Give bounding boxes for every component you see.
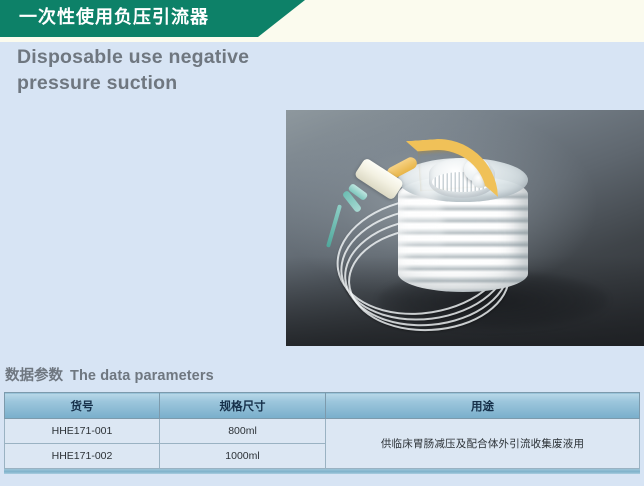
page-title-line-2: pressure suction [17, 70, 287, 96]
specification-table: 货号 规格尺寸 用途 HHE171-001 800ml 供临床胃肠减压及配合体外… [4, 392, 640, 469]
page-title: Disposable use negative pressure suction [17, 44, 287, 96]
data-parameters-heading: 数据参数The data parameters [5, 364, 214, 385]
cell-code: HHE171-001 [5, 419, 160, 444]
column-header-spec: 规格尺寸 [160, 393, 326, 419]
data-parameters-heading-cn: 数据参数 [5, 368, 63, 384]
page-title-line-1: Disposable use negative [17, 44, 287, 70]
cell-use: 供临床胃肠减压及配合体外引流收集废液用 [326, 419, 640, 469]
cell-spec: 800ml [160, 419, 326, 444]
product-photo [286, 110, 644, 346]
banner-title-cn: 一次性使用负压引流器 [19, 5, 209, 31]
cell-spec: 1000ml [160, 444, 326, 469]
tubing-teal-segment [326, 204, 342, 247]
table-row: HHE171-001 800ml 供临床胃肠减压及配合体外引流收集废液用 [5, 419, 640, 444]
data-parameters-heading-en: The data parameters [70, 368, 214, 384]
column-header-code: 货号 [5, 393, 160, 419]
product-spec-page: 一次性使用负压引流器 Disposable use negative press… [0, 0, 644, 486]
table-header-row: 货号 规格尺寸 用途 [5, 393, 640, 419]
column-header-use: 用途 [326, 393, 640, 419]
bottom-accent-bar [4, 469, 640, 474]
cell-code: HHE171-002 [5, 444, 160, 469]
